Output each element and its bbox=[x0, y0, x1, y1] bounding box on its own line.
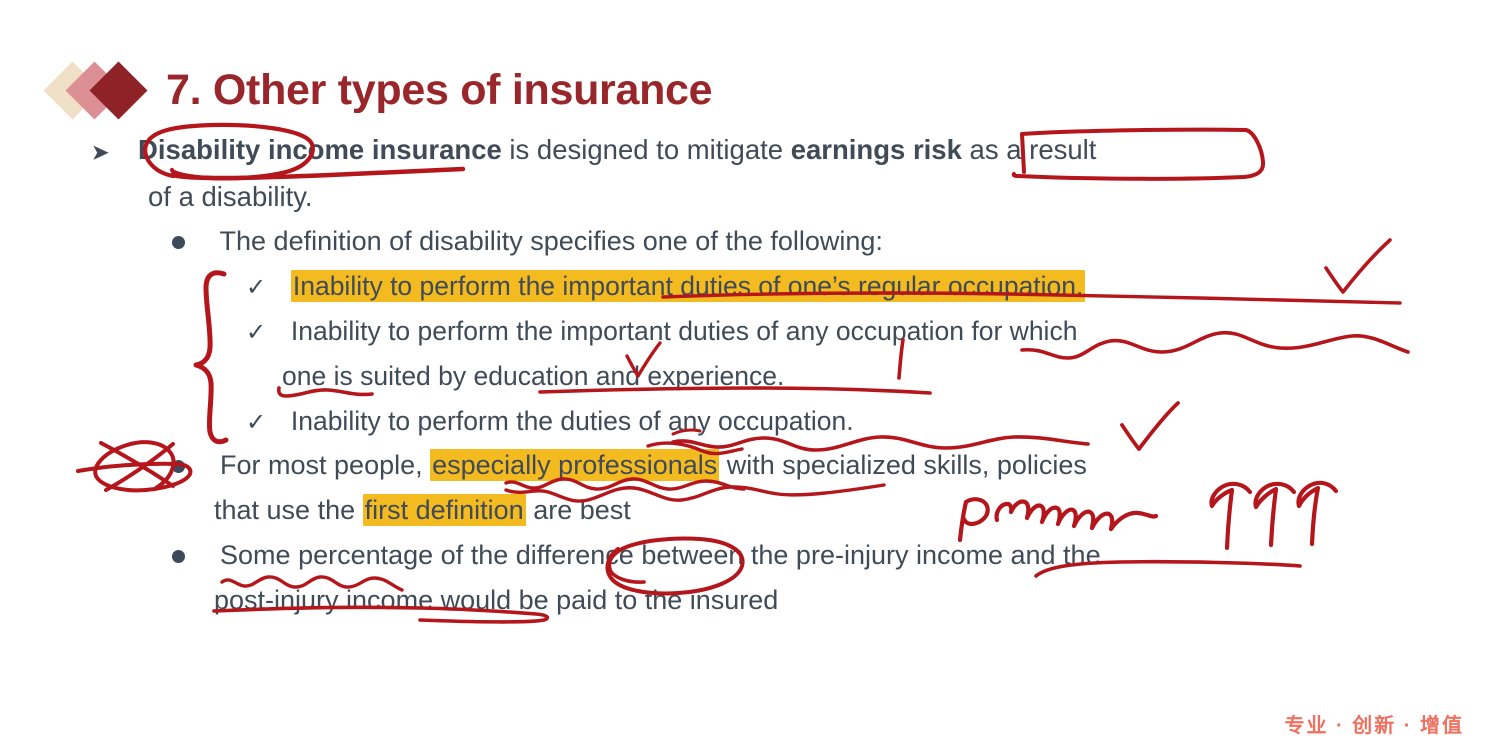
check-item-1-text: Inability to perform the important dutie… bbox=[291, 270, 1086, 302]
check-item-1: ✓ Inability to perform the important dut… bbox=[246, 273, 1085, 300]
bullet-2-text: The definition of disability specifies o… bbox=[220, 226, 883, 256]
bullet-3-line-2: that use the first definition are best bbox=[214, 497, 631, 524]
up-arrow-2 bbox=[1255, 484, 1294, 545]
slide-canvas: 7. Other types of insurance ➤ Disability… bbox=[0, 0, 1500, 750]
bullet-4-line-1: Some percentage of the difference betwee… bbox=[172, 542, 1101, 569]
circle-difference-tail bbox=[610, 570, 644, 582]
page-title: 7. Other types of insurance bbox=[166, 66, 712, 115]
arrow-bullet-icon: ➤ bbox=[92, 142, 109, 164]
check-mark-ink-occupation bbox=[1326, 240, 1390, 292]
pen-dot-disability bbox=[169, 173, 175, 179]
bullet-1-mid: is designed to mitigate bbox=[502, 134, 791, 165]
wavy-underline-any-occupation bbox=[1022, 333, 1408, 358]
bullet-3-line-1: For most people, especially professional… bbox=[172, 452, 1087, 479]
bullet-3-line2-post: are best bbox=[526, 495, 631, 525]
checkmark-icon-3: ✓ bbox=[246, 409, 266, 436]
diamond-decoration bbox=[50, 59, 160, 121]
bullet-3-highlight-2: first definition bbox=[363, 494, 526, 526]
bullet-1-tail: as a result bbox=[962, 134, 1097, 165]
dot-bullet-icon bbox=[172, 236, 185, 249]
handwriting-premium bbox=[960, 499, 1156, 540]
up-arrow-3 bbox=[1298, 483, 1336, 544]
underline-disability-income-insurance bbox=[172, 169, 463, 178]
bullet-1-line-2: of a disability. bbox=[148, 183, 313, 211]
check-item-2-text-1: Inability to perform the important dutie… bbox=[291, 316, 1078, 346]
check-item-3-text: Inability to perform the duties of any o… bbox=[291, 406, 854, 436]
bullet-4-line-2: post-injury income would be paid to the … bbox=[214, 587, 778, 614]
dot-bullet-icon-3 bbox=[172, 550, 185, 563]
bullet-1-bold-term: Disability income insurance bbox=[138, 134, 502, 165]
wavy-underline-duties-any-occupation bbox=[673, 437, 1088, 450]
check-item-2-line-1: ✓ Inability to perform the important dut… bbox=[246, 318, 1077, 345]
bullet-3-post: with specialized skills, policies bbox=[719, 450, 1087, 480]
check-item-2-line-2: one is suited by education and experienc… bbox=[282, 363, 784, 390]
checkmark-icon-1: ✓ bbox=[246, 274, 266, 301]
bullet-3-line2-pre: that use the bbox=[214, 495, 363, 525]
check-mark-ink-any-occupation bbox=[1122, 403, 1178, 449]
bullet-4-text-1: Some percentage of the difference betwee… bbox=[220, 540, 1101, 570]
bullet-1-boxed-term: earnings risk bbox=[791, 134, 962, 165]
bullet-3-pre: For most people, bbox=[220, 450, 430, 480]
slide-title-row: 7. Other types of insurance bbox=[50, 55, 712, 125]
bullet-2-line-1: The definition of disability specifies o… bbox=[172, 228, 883, 255]
bullet-3-highlight-1: especially professionals bbox=[430, 449, 719, 481]
up-arrow-1 bbox=[1211, 484, 1250, 548]
left-curly-brace-annotation bbox=[196, 273, 226, 442]
bullet-1-line-1: ➤ Disability income insurance is designe… bbox=[92, 136, 1096, 164]
check-item-3: ✓ Inability to perform the duties of any… bbox=[246, 408, 854, 435]
footer-slogan: 专业 · 创新 · 增值 bbox=[1284, 709, 1464, 738]
checkmark-icon-2: ✓ bbox=[246, 319, 266, 346]
dot-bullet-icon-2 bbox=[172, 460, 185, 473]
